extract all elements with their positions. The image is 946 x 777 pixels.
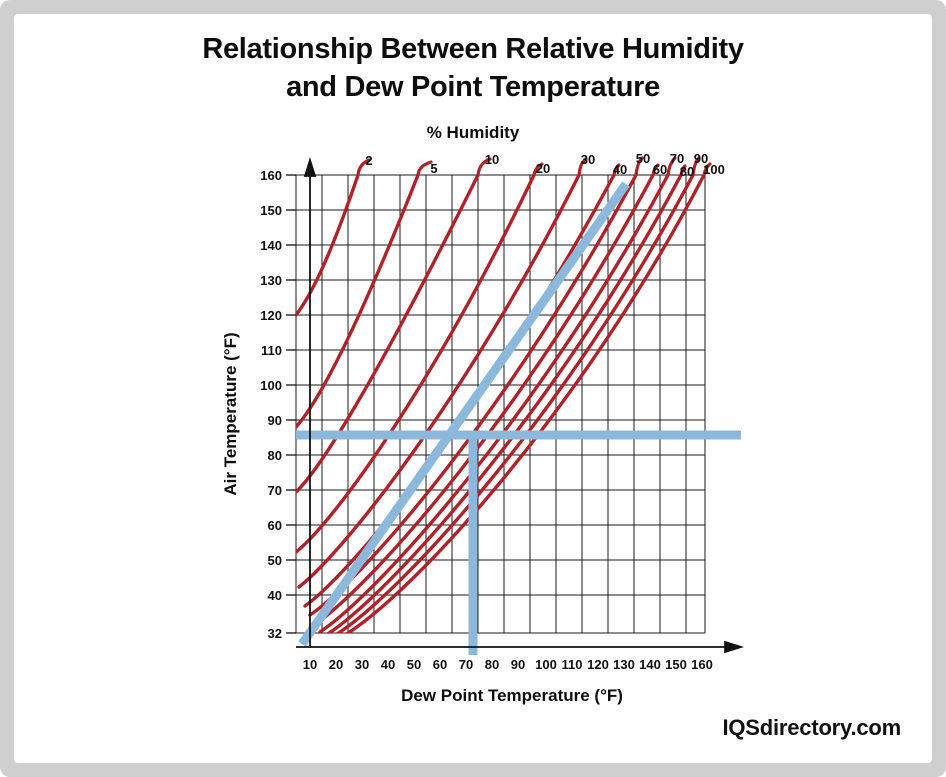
y-axis-arrow-icon [305, 160, 315, 176]
x-tick-label: 110 [562, 657, 583, 672]
humidity-label-5: 5 [430, 161, 437, 176]
humidity-curve-90 [332, 175, 693, 637]
x-tick-label: 60 [433, 657, 447, 672]
y-axis-tick-labels: 160 150 140 130 120 110 100 90 80 70 60 … [260, 168, 282, 641]
x-tick-label: 130 [613, 657, 635, 672]
humidity-label-50: 50 [636, 151, 650, 166]
humidity-label-2: 2 [365, 153, 372, 168]
x-tick-label: 40 [381, 657, 395, 672]
humidity-label-60: 60 [653, 162, 667, 177]
x-tick-label: 120 [587, 657, 609, 672]
y-tick-label: 100 [260, 378, 282, 393]
page-canvas: Relationship Between Relative Humidity a… [14, 14, 932, 763]
leader-5 [418, 162, 431, 175]
x-tick-label: 160 [691, 657, 713, 672]
x-tick-label: 30 [355, 657, 369, 672]
humidity-label-100: 100 [703, 162, 725, 177]
y-tick-label: 60 [268, 518, 282, 533]
x-tick-label: 100 [535, 657, 557, 672]
x-tick-label: 20 [329, 657, 343, 672]
chart-svg: 160 150 140 130 120 110 100 90 80 70 60 … [14, 14, 932, 763]
image-outer-border: Relationship Between Relative Humidity a… [0, 0, 946, 777]
y-axis-title: Air Temperature (°F) [221, 332, 240, 495]
x-tick-label: 70 [459, 657, 473, 672]
x-tick-label: 80 [485, 657, 499, 672]
x-tick-label: 10 [303, 657, 317, 672]
humidity-label-40: 40 [613, 162, 627, 177]
x-axis-title: Dew Point Temperature (°F) [401, 686, 623, 705]
y-tick-label: 160 [260, 168, 282, 183]
y-tick-label: 90 [268, 413, 282, 428]
y-tick-label: 32 [268, 626, 282, 641]
y-tick-label: 120 [260, 308, 282, 323]
y-tick-label: 70 [268, 483, 282, 498]
x-tick-label: 50 [407, 657, 421, 672]
x-axis-tick-labels: 10 20 30 40 50 60 70 80 90 100 110 120 1… [303, 657, 713, 672]
y-tick-label: 50 [268, 553, 282, 568]
watermark-text: IQSdirectory.com [722, 715, 901, 741]
humidity-label-30: 30 [581, 152, 595, 167]
chart-axes [296, 160, 741, 652]
humidity-label-10: 10 [485, 152, 499, 167]
y-tick-label: 150 [260, 203, 282, 218]
y-tick-label: 140 [260, 238, 282, 253]
chart-figure: 160 150 140 130 120 110 100 90 80 70 60 … [14, 14, 932, 763]
humidity-curve-40 [305, 175, 614, 606]
x-tick-label: 90 [511, 657, 525, 672]
x-tick-label: 150 [665, 657, 687, 672]
y-tick-marks [286, 175, 296, 633]
y-tick-label: 40 [268, 588, 282, 603]
x-axis-arrow-icon [725, 642, 741, 652]
x-tick-label: 140 [639, 657, 661, 672]
humidity-label-20: 20 [536, 161, 550, 176]
y-tick-label: 80 [268, 448, 282, 463]
y-tick-label: 110 [261, 343, 282, 358]
y-tick-label: 130 [260, 273, 282, 288]
humidity-label-80: 80 [680, 164, 694, 179]
